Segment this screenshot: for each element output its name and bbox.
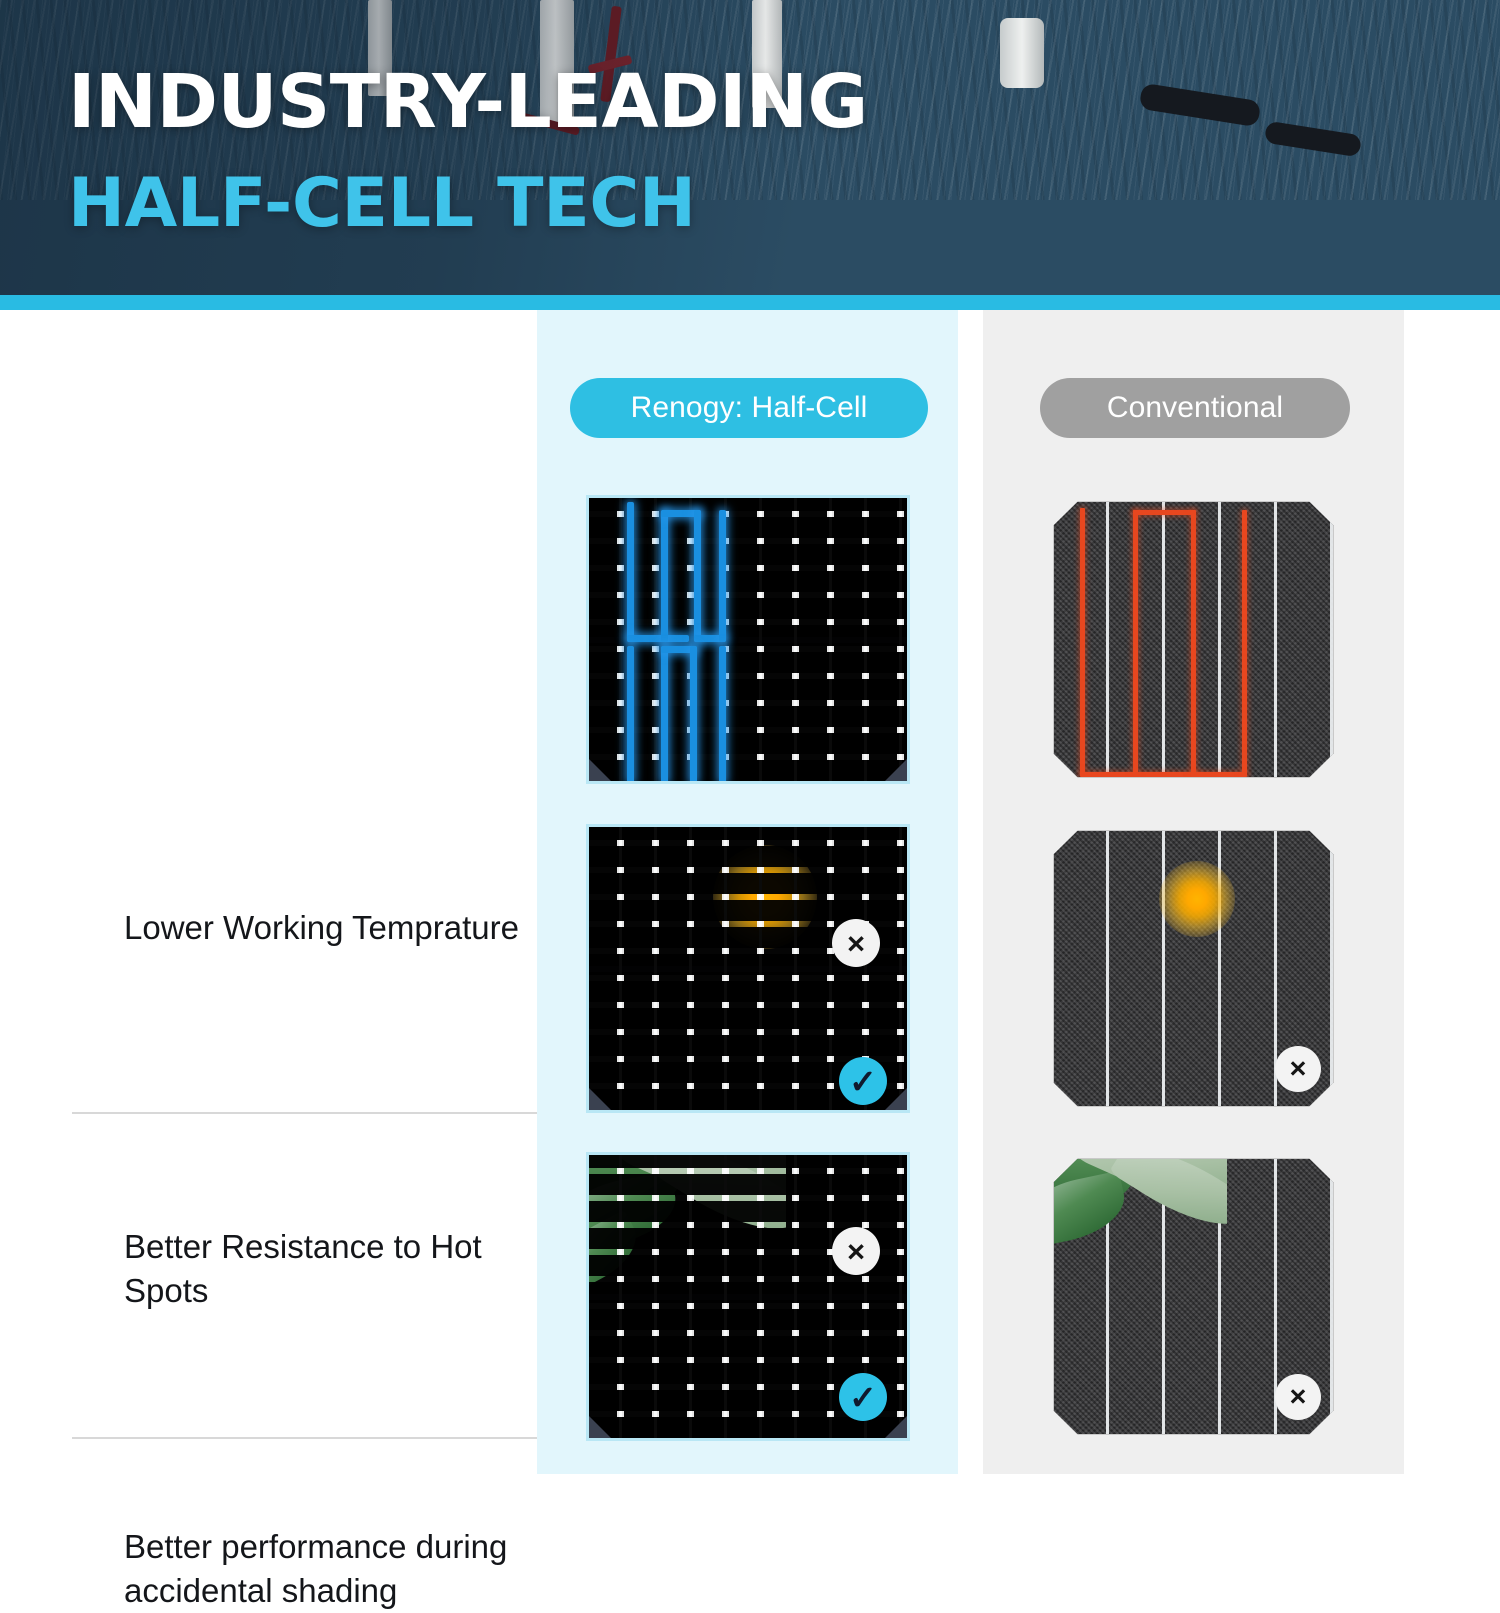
conventional-cell-row1 [1047,495,1340,784]
x-icon: × [832,1227,880,1275]
hot-spot-glow [1159,861,1235,937]
feature-label-accidental-shading: Better performance during accidental sha… [124,1525,524,1613]
row-divider [72,1437,537,1439]
conventional-cell-row3: × [1047,1152,1340,1441]
column-header-conventional: Conventional [1040,378,1350,438]
current-path-segment [1242,510,1247,776]
current-path-segment [1133,510,1138,776]
column-header-half-cell-label: Renogy: Half-Cell [631,391,868,425]
half-cell-module-row1 [586,495,910,784]
cell-face [1053,501,1334,778]
column-header-half-cell: Renogy: Half-Cell [570,378,928,438]
hero-gradient-overlay [0,0,1020,295]
half-cell-module-row2: × ✓ [586,824,910,1113]
hero-banner: INDUSTRY-LEADING HALF-CELL TECH [0,0,1500,295]
current-path-segment [1191,772,1247,777]
current-path-segment [627,635,689,642]
cell-corner-chamfer [885,759,907,781]
check-icon: ✓ [839,1057,887,1105]
current-path-segment [661,510,668,642]
check-icon: ✓ [839,1373,887,1421]
current-path-segment [1080,772,1200,777]
x-icon: × [1275,1374,1321,1420]
x-icon: × [832,919,880,967]
cell-corner-chamfer [885,1416,907,1438]
feature-label-hot-spot-resistance: Better Resistance to Hot Spots [124,1225,524,1313]
current-path-segment [690,646,697,783]
current-path-segment [627,646,634,783]
cell-corner-chamfer [589,1416,611,1438]
current-path-segment [661,646,668,783]
cell-corner-chamfer [885,1088,907,1110]
half-cell-module-row3: × ✓ [586,1152,910,1441]
current-path-segment [719,510,726,642]
cell-corner-chamfer [589,759,611,781]
hero-accent-bar [0,295,1500,310]
hero-subtitle: HALF-CELL TECH [68,170,696,238]
row-divider [72,1112,537,1114]
conventional-cell-row2: × [1047,824,1340,1113]
comparison-board: Renogy: Half-Cell Conventional Lower Wor… [0,310,1500,1474]
current-path-segment [1133,510,1195,515]
cell-corner-chamfer [589,1088,611,1110]
hero-title: INDUSTRY-LEADING [68,66,868,139]
column-header-conventional-label: Conventional [1107,391,1283,425]
current-path-segment [627,502,634,642]
feature-label-lower-working-temperature: Lower Working Temprature [124,906,524,950]
current-path-segment [719,646,726,783]
x-icon: × [1275,1046,1321,1092]
current-path-segment [1191,510,1196,776]
current-path-segment [694,510,701,642]
current-path-segment [1080,508,1085,776]
